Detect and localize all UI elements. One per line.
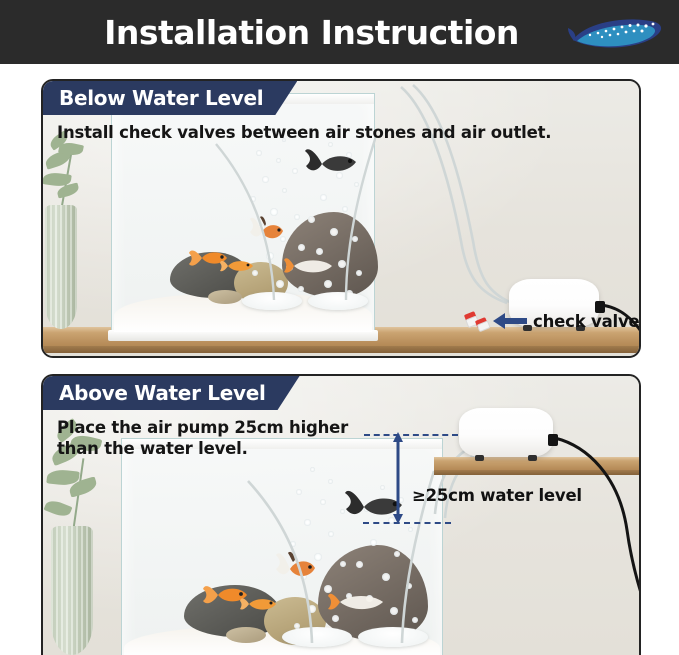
measure-line-top — [364, 434, 458, 436]
pump-foot — [475, 455, 484, 461]
double-arrow-vertical-icon — [391, 432, 405, 524]
whale-shark-logo-icon — [567, 14, 667, 54]
vase-ribs — [51, 526, 93, 655]
panel-above-water-level: Above Water Level Place the air pump 25c… — [41, 374, 641, 655]
panel-below-water-level: Below Water Level Install check valves b… — [41, 79, 641, 358]
vase-ribs — [45, 205, 77, 329]
pump-foot — [528, 455, 537, 461]
instruction-text-below: Install check valves between air stones … — [57, 123, 551, 144]
air-pump — [459, 408, 553, 457]
plant-vase — [51, 526, 93, 655]
check-valves-label: check valves — [533, 312, 641, 331]
check-valve-icon — [461, 309, 495, 335]
water-level-measure-label: ≥25cm water level — [412, 486, 582, 505]
arrow-left-icon — [493, 312, 527, 330]
instruction-text-above: Place the air pump 25cm higher than the … — [57, 418, 357, 459]
shelf-edge — [43, 346, 639, 353]
measure-line-bottom — [363, 522, 451, 524]
plant-vase — [45, 205, 77, 329]
page-title: Installation Instruction — [104, 13, 519, 52]
pump-power-cord — [553, 428, 639, 655]
plant-leaf — [44, 498, 73, 520]
badge-below-water-level: Below Water Level — [43, 81, 297, 115]
page-header: Installation Instruction — [0, 0, 679, 64]
badge-above-water-level: Above Water Level — [43, 376, 300, 410]
